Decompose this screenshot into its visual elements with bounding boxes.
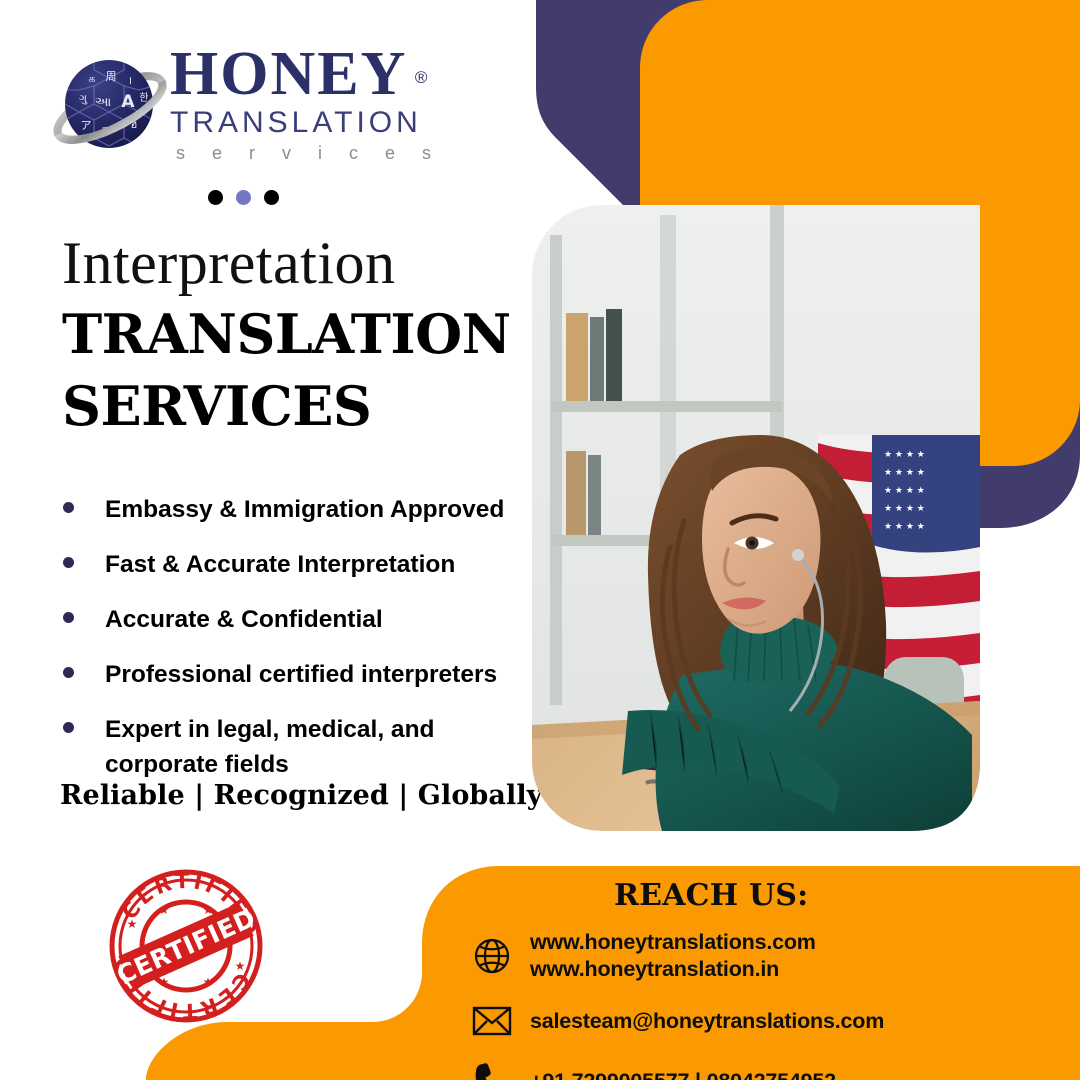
feature-list: Embassy & Immigration Approved Fast & Ac… — [58, 492, 528, 802]
svg-text:A: A — [121, 92, 135, 112]
svg-text:★: ★ — [203, 975, 214, 989]
logo-translation-label: TRANSLATION — [170, 106, 470, 140]
decorative-dots — [208, 190, 279, 205]
svg-text:★ ★ ★ ★: ★ ★ ★ ★ — [884, 450, 925, 460]
svg-text:★: ★ — [127, 917, 138, 931]
contact-row-phone[interactable]: +91 7299005577 | 08042754952 — [470, 1059, 1070, 1080]
svg-text:★ ★ ★ ★: ★ ★ ★ ★ — [884, 504, 925, 514]
bullet-dot-icon — [63, 612, 74, 623]
list-item-label: Accurate & Confidential — [105, 602, 383, 637]
dot-1 — [208, 190, 223, 205]
list-item-label: Expert in legal, medical, and corporate … — [105, 712, 528, 782]
website-line-2: www.honeytranslation.in — [530, 956, 816, 983]
envelope-icon — [470, 999, 514, 1043]
brand-logo[interactable]: க 周 । ગુ આ A 한 ア தம ฮ HONEY ® TRANSLATIO… — [52, 42, 472, 182]
bullet-dot-icon — [63, 502, 74, 513]
phone-icon — [470, 1059, 514, 1080]
list-item: Embassy & Immigration Approved — [58, 492, 528, 527]
list-item: Accurate & Confidential — [58, 602, 528, 637]
logo-honey-text: HONEY ® — [170, 42, 407, 106]
reach-us-title: REACH US: — [614, 878, 1070, 913]
bullet-dot-icon — [63, 557, 74, 568]
svg-text:周: 周 — [106, 70, 117, 83]
contact-text-phone: +91 7299005577 | 08042754952 — [530, 1068, 836, 1080]
svg-text:★ ★ ★ ★: ★ ★ ★ ★ — [884, 522, 925, 532]
contact-row-email[interactable]: salesteam@honeytranslations.com — [470, 999, 1070, 1043]
contact-text-email: salesteam@honeytranslations.com — [530, 1008, 884, 1035]
dot-3 — [264, 190, 279, 205]
list-item-label: Embassy & Immigration Approved — [105, 492, 504, 527]
list-item: Fast & Accurate Interpretation — [58, 547, 528, 582]
svg-text:க: க — [88, 72, 95, 85]
svg-text:ગુ: ગુ — [79, 92, 88, 105]
list-item: Professional certified interpreters — [58, 657, 528, 692]
svg-text:આ: આ — [95, 95, 112, 110]
logo-services-label: s e r v i c e s — [176, 142, 470, 164]
poster-canvas: க 周 । ગુ આ A 한 ア தம ฮ HONEY ® TRANSLATIO… — [0, 0, 1080, 1080]
svg-text:★ ★ ★ ★: ★ ★ ★ ★ — [884, 468, 925, 478]
dot-2 — [236, 190, 251, 205]
contact-row-website[interactable]: www.honeytranslations.com www.honeytrans… — [470, 929, 1070, 983]
list-item: Expert in legal, medical, and corporate … — [58, 712, 528, 782]
hero-photo-illustration: ★ ★ ★ ★ ★ ★ ★ ★ ★ ★ ★ ★ ★ ★ ★ ★ ★ ★ ★ ★ — [532, 205, 980, 831]
svg-text:★: ★ — [235, 959, 246, 973]
headline-main-line-1: TRANSLATION — [62, 302, 532, 366]
headline-main-line-2: SERVICES — [62, 374, 532, 438]
logo-honey-label: HONEY — [170, 40, 407, 108]
contact-text-website: www.honeytranslations.com www.honeytrans… — [530, 929, 816, 983]
website-line-1: www.honeytranslations.com — [530, 930, 816, 954]
svg-text:★ ★ ★ ★: ★ ★ ★ ★ — [884, 486, 925, 496]
reach-us-panel: REACH US: www.honeytranslations.com www.… — [470, 878, 1070, 1080]
svg-text:।: । — [128, 74, 132, 87]
certified-stamp-icon: CERTIFIED CERTIFIED ★★ ★★ ★★ ★★ CERTIFIE… — [106, 866, 266, 1026]
headline-script-line: Interpretation — [62, 232, 532, 294]
svg-text:ア: ア — [81, 119, 92, 132]
list-item-label: Fast & Accurate Interpretation — [105, 547, 455, 582]
svg-text:★: ★ — [159, 903, 170, 917]
logo-wordmark: HONEY ® TRANSLATION s e r v i c e s — [170, 42, 470, 164]
list-item-label: Professional certified interpreters — [105, 657, 497, 692]
registered-trademark-icon: ® — [415, 46, 430, 110]
globe-logo-icon: க 周 । ગુ આ A 한 ア தம ฮ — [52, 50, 168, 166]
bullet-dot-icon — [63, 667, 74, 678]
bullet-dot-icon — [63, 722, 74, 733]
hero-photo: ★ ★ ★ ★ ★ ★ ★ ★ ★ ★ ★ ★ ★ ★ ★ ★ ★ ★ ★ ★ — [532, 205, 980, 831]
headline-block: Interpretation TRANSLATION SERVICES — [62, 232, 532, 438]
globe-icon — [470, 934, 514, 978]
